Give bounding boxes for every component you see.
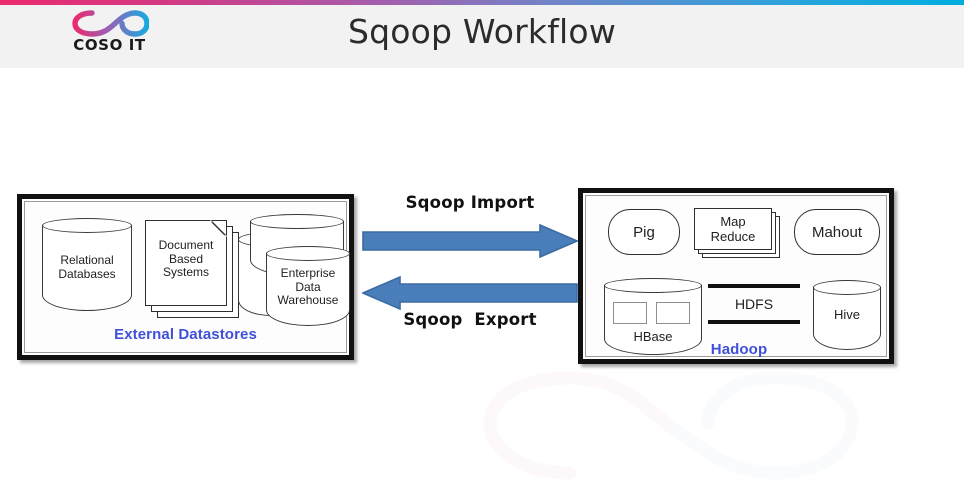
mahout-shape: Mahout (794, 209, 880, 255)
label-line: Document (146, 239, 226, 253)
hdfs-bar-top (708, 284, 800, 288)
label-line: Based (146, 253, 226, 267)
page-title: Sqoop Workflow (0, 12, 964, 51)
hadoop-caption: Hadoop (674, 341, 804, 358)
label-line: Systems (146, 266, 226, 280)
map-reduce-label: Map Reduce (711, 214, 756, 244)
edw-cylinder-front: Enterprise Data Warehouse (266, 246, 350, 326)
relational-databases-label: Relational Databases (42, 254, 132, 281)
label-line: Data (266, 281, 350, 295)
cylinder-top (604, 278, 702, 293)
label-line: Databases (42, 268, 132, 282)
cylinder-top (42, 218, 132, 233)
hbase-block-right (656, 302, 690, 324)
pig-shape: Pig (608, 209, 680, 255)
panel-inner-border: Relational Databases Document Based Syst… (24, 201, 347, 353)
hdfs-group: HDFS (708, 284, 800, 334)
enterprise-data-warehouse-label: Enterprise Data Warehouse (266, 267, 350, 308)
mahout-label: Mahout (812, 224, 862, 241)
label-line: Reduce (711, 229, 756, 244)
relational-databases-cylinder: Relational Databases (42, 218, 132, 311)
sqoop-import-arrow (362, 224, 578, 258)
hive-label: Hive (813, 308, 881, 322)
pig-label: Pig (633, 224, 655, 241)
hbase-block-left (613, 302, 647, 324)
document-sheet-front: Document Based Systems (145, 220, 227, 306)
panel-inner-border: Pig Map Reduce Mahout HBase (585, 195, 887, 357)
document-based-systems-label: Document Based Systems (146, 239, 226, 280)
sqoop-export-label: Sqoop Export (360, 310, 580, 329)
label-line: Relational (42, 254, 132, 268)
hdfs-label: HDFS (708, 298, 800, 312)
label-line: Enterprise (266, 267, 350, 281)
hadoop-panel: Pig Map Reduce Mahout HBase (578, 188, 894, 364)
sqoop-import-label: Sqoop Import (360, 193, 580, 212)
watermark-infinity-icon (460, 368, 880, 488)
label-line: Map (711, 214, 756, 229)
hdfs-bar-bottom (708, 320, 800, 324)
document-based-systems-group: Document Based Systems (143, 214, 243, 324)
document-fold-corner-icon (210, 220, 227, 237)
hive-cylinder: Hive (813, 280, 881, 350)
external-datastores-caption: External Datastores (25, 326, 346, 343)
cylinder-top (813, 280, 881, 295)
enterprise-data-warehouse-group: Enterprise Data Warehouse (238, 210, 350, 328)
external-datastores-panel: Relational Databases Document Based Syst… (17, 194, 354, 360)
cylinder-top (250, 214, 344, 229)
label-line: Warehouse (266, 294, 350, 308)
map-reduce-group: Map Reduce (694, 208, 784, 260)
map-reduce-rect-front: Map Reduce (694, 208, 772, 250)
cylinder-top (266, 246, 350, 261)
sqoop-export-arrow (362, 276, 578, 310)
